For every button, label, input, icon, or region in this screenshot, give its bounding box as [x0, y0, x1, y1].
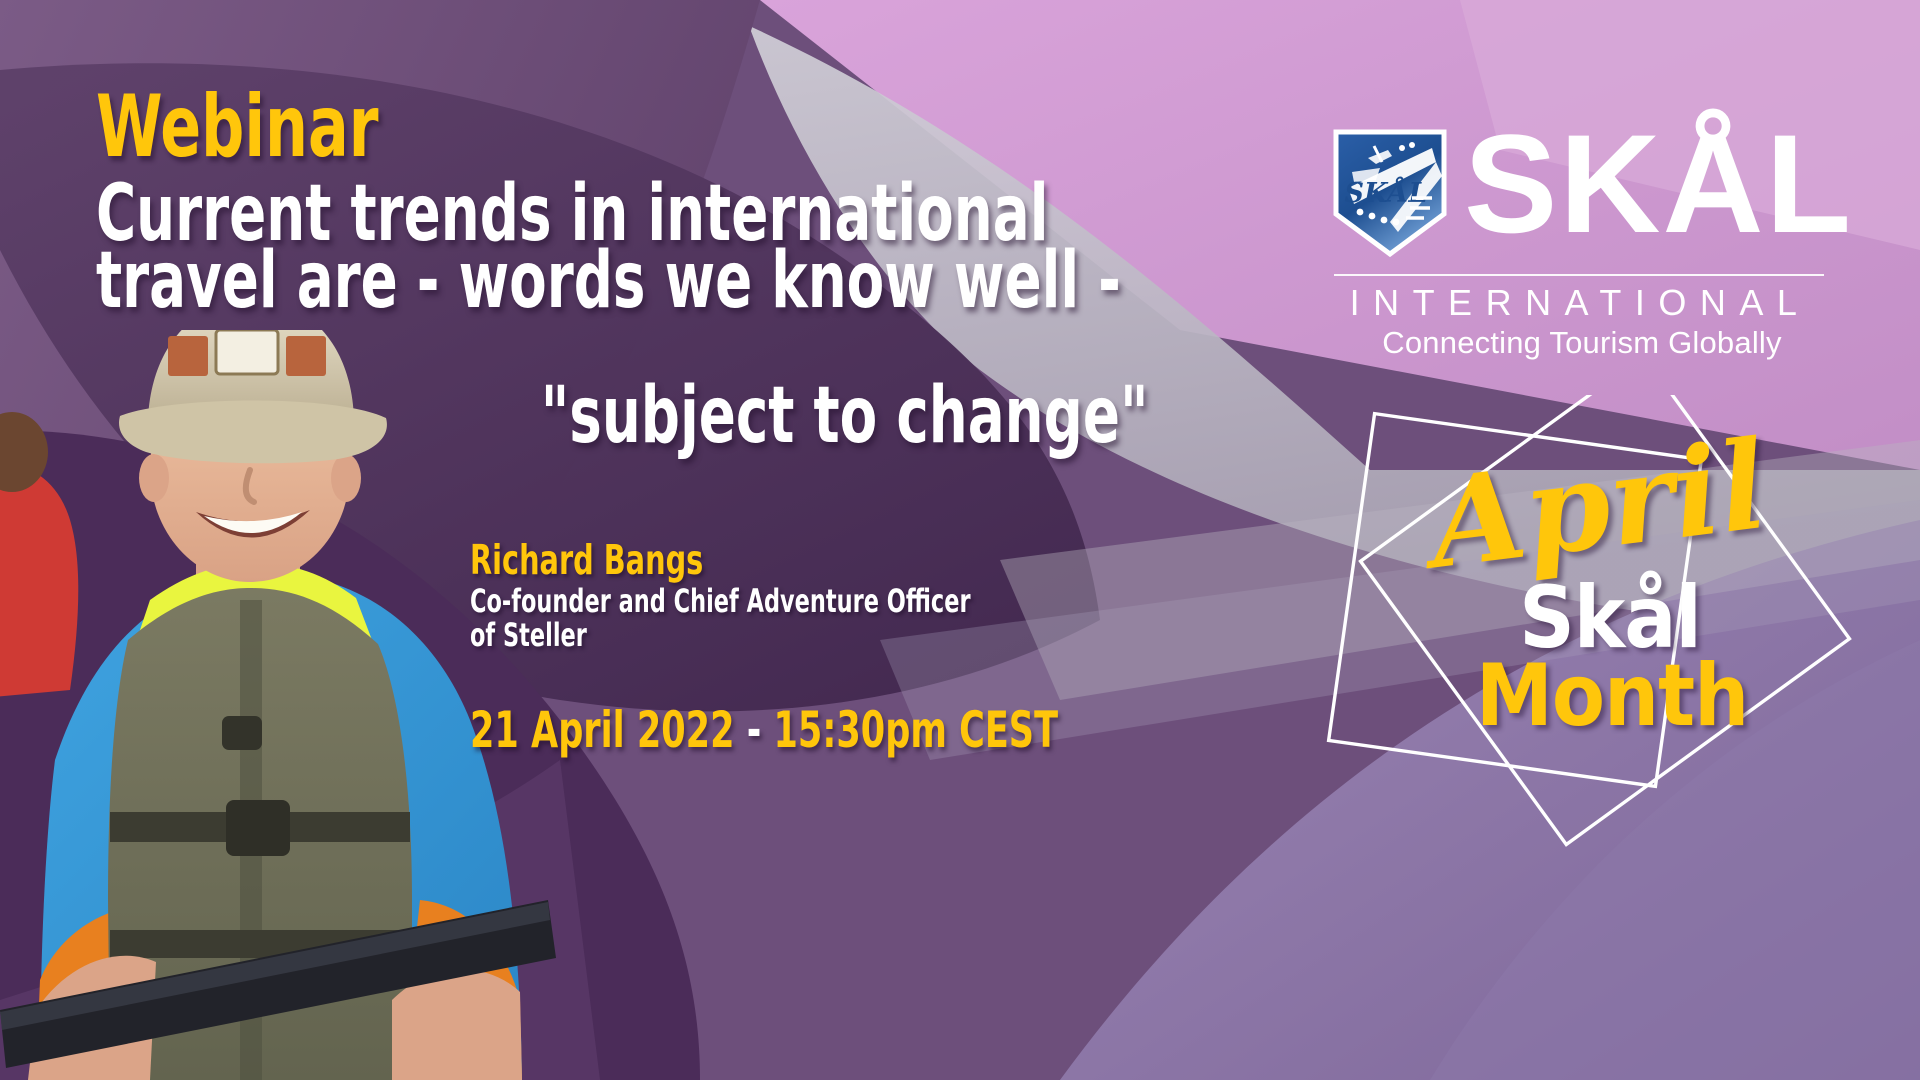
headline-line-3: "subject to change": [541, 380, 1149, 453]
left-text-column: Webinar Current trends in international …: [0, 0, 1220, 1080]
logo-subtitle: INTERNATIONAL: [1334, 280, 1826, 325]
kicker-webinar: Webinar: [96, 88, 378, 167]
badge-line-month: Month: [1422, 653, 1802, 739]
svg-text:SKÅL: SKÅL: [1345, 175, 1428, 209]
headline-line-2: travel are - words we know well -: [96, 245, 1121, 318]
event-time: 15:30pm CEST: [774, 701, 1059, 759]
logo-divider-rule: [1334, 274, 1824, 276]
event-date: 21 April 2022: [470, 701, 735, 759]
speaker-role-line-1: Co-founder and Chief Adventure Officer: [470, 585, 971, 619]
speaker-role-line-2: of Steller: [470, 619, 587, 653]
skal-shield-crest-icon: SKÅL: [1332, 128, 1448, 258]
speaker-name: Richard Bangs: [470, 540, 703, 581]
skal-international-logo: SKÅL SKÅL INTERNATIONAL Connecting Touri…: [1332, 128, 1832, 318]
event-datetime: 21 April 2022 - 15:30pm CEST: [470, 705, 1058, 755]
skal-wordmark: SKÅL: [1464, 114, 1853, 254]
datetime-separator: -: [747, 701, 762, 759]
webinar-promo-banner: Webinar Current trends in international …: [0, 0, 1920, 1080]
logo-tagline: Connecting Tourism Globally: [1334, 324, 1830, 361]
april-skal-month-badge: April Skål Month: [1290, 395, 1890, 875]
